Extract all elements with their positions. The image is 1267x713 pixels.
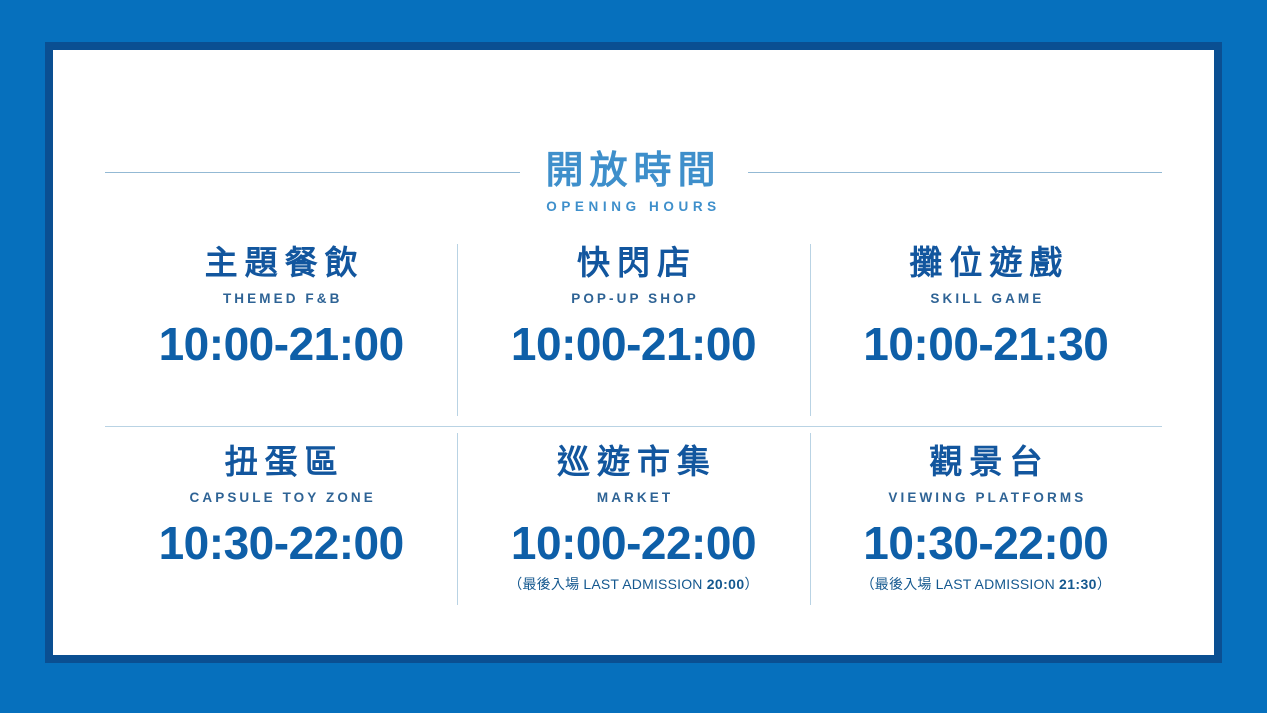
section-hours: 10:00-21:00 <box>511 320 756 368</box>
section-subtitle: SKILL GAME <box>927 291 1044 306</box>
section-subtitle: MARKET <box>594 490 673 505</box>
section-note: （最後入場 LAST ADMISSION 20:00） <box>508 574 758 592</box>
section-hours: 10:30-22:00 <box>159 519 404 567</box>
hours-cell-themed-fnb: 主題餐飲 THEMED F&B 10:00-21:00 <box>105 238 457 426</box>
section-title: 巡遊市集 <box>550 443 717 481</box>
hours-row-bottom: 扭蛋區 CAPSULE TOY ZONE 10:30-22:00 巡遊市集 MA… <box>105 427 1162 615</box>
note-suffix: ） <box>745 576 759 592</box>
note-time: 21:30 <box>1059 576 1097 592</box>
section-subtitle: VIEWING PLATFORMS <box>885 490 1086 505</box>
section-hours: 10:30-22:00 <box>863 519 1108 567</box>
note-time: 20:00 <box>707 576 745 592</box>
section-note: （最後入場 LAST ADMISSION 21:30） <box>861 574 1111 592</box>
section-title: 快閃店 <box>570 244 697 282</box>
section-subtitle: POP-UP SHOP <box>568 291 699 306</box>
section-title: 觀景台 <box>922 443 1049 481</box>
section-title: 主題餐飲 <box>198 244 365 282</box>
header-rule-right <box>748 172 1163 173</box>
note-prefix: （最後入場 LAST ADMISSION <box>508 576 706 592</box>
hours-grid: 主題餐飲 THEMED F&B 10:00-21:00 快閃店 POP-UP S… <box>105 238 1162 615</box>
note-prefix: （最後入場 LAST ADMISSION <box>861 576 1059 592</box>
note-suffix: ） <box>1097 576 1111 592</box>
page-subtitle: OPENING HOURS <box>546 199 722 214</box>
section-hours: 10:00-22:00 <box>511 519 756 567</box>
hours-cell-market: 巡遊市集 MARKET 10:00-22:00 （最後入場 LAST ADMIS… <box>457 427 809 615</box>
header: 開放時間 OPENING HOURS <box>105 142 1162 204</box>
section-title: 扭蛋區 <box>218 443 345 481</box>
hours-cell-viewing-platforms: 觀景台 VIEWING PLATFORMS 10:30-22:00 （最後入場 … <box>810 427 1162 615</box>
hours-cell-skill-game: 攤位遊戲 SKILL GAME 10:00-21:30 <box>810 238 1162 426</box>
section-title: 攤位遊戲 <box>902 244 1069 282</box>
section-subtitle: CAPSULE TOY ZONE <box>186 490 375 505</box>
section-hours: 10:00-21:30 <box>863 320 1108 368</box>
hours-cell-pop-up-shop: 快閃店 POP-UP SHOP 10:00-21:00 <box>457 238 809 426</box>
opening-hours-card: 開放時間 OPENING HOURS 主題餐飲 THEMED F&B 10:00… <box>45 42 1222 663</box>
section-hours: 10:00-21:00 <box>159 320 404 368</box>
card-content: 開放時間 OPENING HOURS 主題餐飲 THEMED F&B 10:00… <box>53 50 1214 655</box>
header-text-group: 開放時間 OPENING HOURS <box>520 152 748 214</box>
hours-cell-capsule-toy-zone: 扭蛋區 CAPSULE TOY ZONE 10:30-22:00 <box>105 427 457 615</box>
header-rule-left <box>105 172 520 173</box>
hours-row-top: 主題餐飲 THEMED F&B 10:00-21:00 快閃店 POP-UP S… <box>105 238 1162 426</box>
page-title: 開放時間 <box>546 152 722 192</box>
section-subtitle: THEMED F&B <box>220 291 343 306</box>
